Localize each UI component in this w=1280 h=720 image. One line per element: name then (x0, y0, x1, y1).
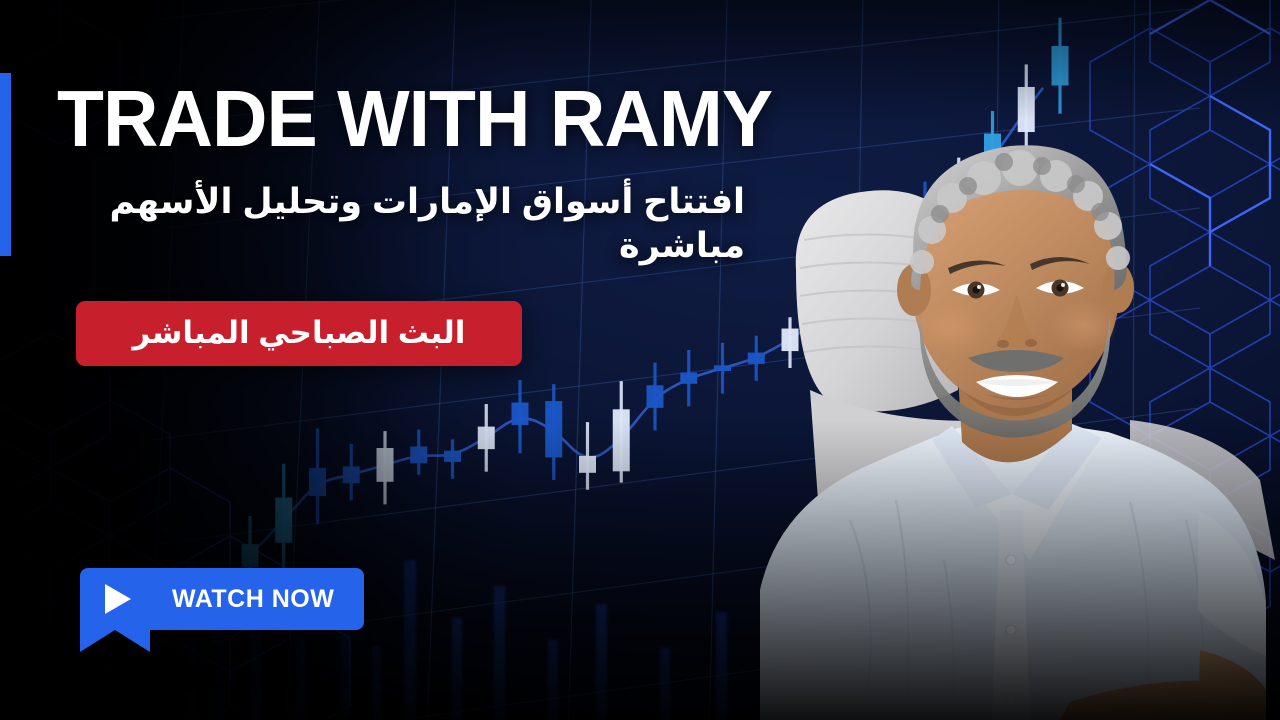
status-badge-label: البث الصباحي المباشر (133, 317, 466, 351)
watch-now-label-box[interactable]: WATCH NOW (150, 568, 364, 630)
watch-now-button[interactable]: WATCH NOW (80, 568, 364, 630)
status-badge: البث الصباحي المباشر (76, 301, 522, 366)
watch-now-label: WATCH NOW (172, 585, 334, 614)
page-subtitle: افتتاح أسواق الإمارات وتحليل الأسهم مباش… (0, 180, 745, 268)
page-title: TRADE WITH RAMY (57, 82, 787, 156)
presenter-portrait (700, 90, 1280, 720)
thumbnail-canvas: TRADE WITH RAMY افتتاح أسواق الإمارات وت… (0, 0, 1280, 720)
play-triangle-glyph (105, 584, 131, 614)
play-icon[interactable] (80, 568, 150, 630)
